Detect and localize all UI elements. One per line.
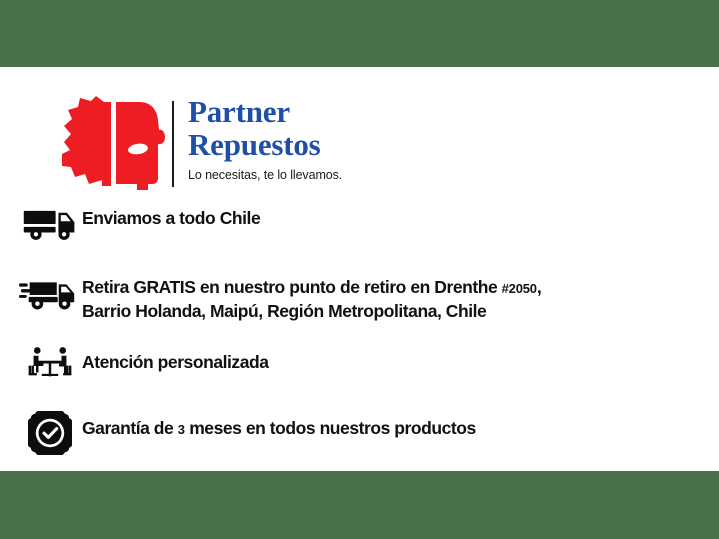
feature-text-shipping: Enviamos a todo Chile	[82, 205, 719, 230]
content-sheet: Partner Repuestos Lo necesitas, te lo ll…	[0, 67, 719, 471]
feature-text-pickup-address-number: #2050	[502, 281, 537, 296]
feature-list: Enviamos a todo Chile	[0, 205, 719, 455]
feature-text-warranty: Garantía de 3 meses en todos nuestros pr…	[82, 411, 719, 441]
feature-row-pickup: Retira GRATIS en nuestro punto de retiro…	[0, 274, 719, 323]
fast-delivery-truck-icon	[18, 274, 82, 314]
brand-header: Partner Repuestos Lo necesitas, te lo ll…	[0, 94, 719, 194]
wordmark: Partner Repuestos Lo necesitas, te lo ll…	[188, 94, 608, 182]
feature-text-warranty-a: Garantía de	[82, 418, 178, 438]
delivery-truck-icon	[18, 205, 82, 243]
meeting-table-icon	[18, 345, 82, 383]
feature-text-shipping-line1: Enviamos a todo Chile	[82, 208, 260, 228]
logo-divider	[172, 101, 174, 187]
top-green-band	[0, 0, 719, 67]
brand-name-line-2: Repuestos	[188, 128, 608, 161]
feature-row-attention: Atención personalizada	[0, 345, 719, 389]
feature-text-pickup-line1-a: Retira GRATIS en nuestro punto de retiro…	[82, 277, 502, 297]
bottom-green-band	[0, 471, 719, 539]
feature-text-warranty-b: meses en todos nuestros productos	[185, 418, 476, 438]
guarantee-badge-check-icon	[18, 411, 82, 455]
brand-name-line-1: Partner	[188, 95, 608, 128]
brand-tagline: Lo necesitas, te lo llevamos.	[188, 168, 608, 182]
feature-text-attention-line1: Atención personalizada	[82, 352, 269, 372]
feature-text-attention: Atención personalizada	[82, 345, 719, 374]
feature-text-warranty-months: 3	[178, 422, 185, 437]
feature-row-shipping: Enviamos a todo Chile	[0, 205, 719, 249]
feature-text-pickup-line1-b: ,	[537, 277, 541, 297]
feature-row-warranty: Garantía de 3 meses en todos nuestros pr…	[0, 411, 719, 455]
feature-text-pickup-line2: Barrio Holanda, Maipú, Región Metropolit…	[82, 301, 486, 321]
gear-car-icon	[58, 94, 166, 194]
promo-banner: Partner Repuestos Lo necesitas, te lo ll…	[0, 0, 719, 539]
feature-text-pickup: Retira GRATIS en nuestro punto de retiro…	[82, 274, 719, 323]
